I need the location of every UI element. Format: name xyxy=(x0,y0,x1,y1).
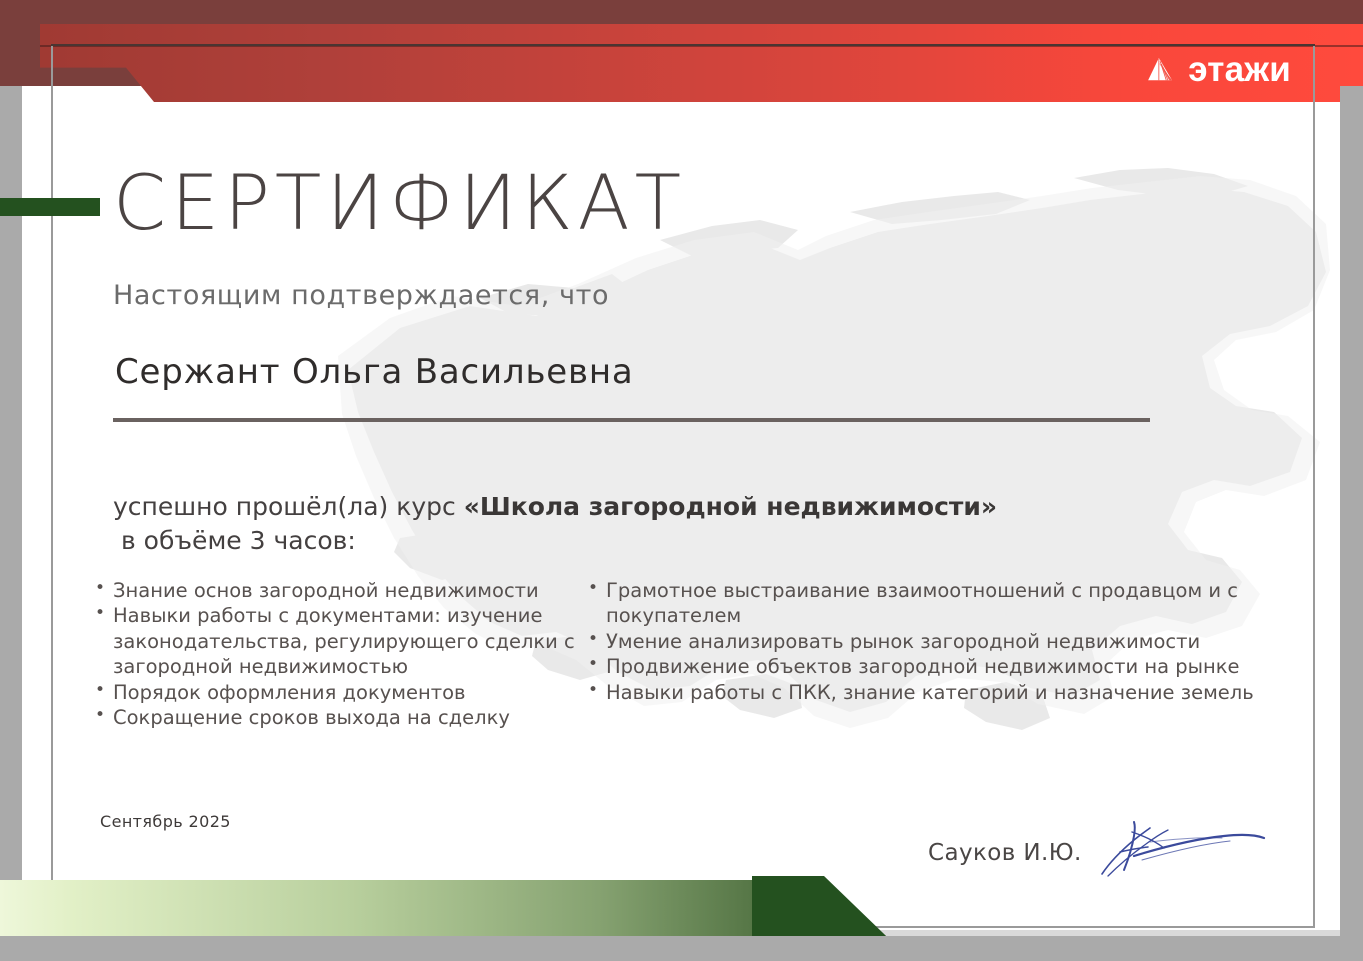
course-prefix: успешно прошёл(ла) курс xyxy=(113,492,464,521)
course-name: «Школа загородной недвижимости» xyxy=(464,492,997,521)
recipient-underline xyxy=(113,418,1150,422)
list-item: Навыки работы с ПКК, знание категорий и … xyxy=(585,680,1265,705)
list-item: Навыки работы с документами: изучение за… xyxy=(92,603,582,679)
signer-name: Сауков И.Ю. xyxy=(928,840,1082,866)
list-item: Умение анализировать рынок загородной не… xyxy=(585,629,1265,654)
skills-right-column: Грамотное выстраивание взаимоотношений с… xyxy=(585,578,1265,731)
course-hours: в объёме 3 часов: xyxy=(121,524,1173,558)
inner-frame-top-line xyxy=(51,44,1315,46)
issue-date: Сентябрь 2025 xyxy=(100,812,231,831)
certificate-canvas: этажи СЕРТИФИКАТ Настоящим подтверждаетс… xyxy=(0,0,1363,961)
list-item: Знание основ загородной недвижимости xyxy=(92,578,582,603)
recipient-name: Сержант Ольга Васильевна xyxy=(115,352,634,392)
right-grey-bar xyxy=(1340,86,1363,961)
skills-columns: Знание основ загородной недвижимости Нав… xyxy=(92,578,1272,731)
list-item: Продвижение объектов загородной недвижим… xyxy=(585,654,1265,679)
skills-left-column: Знание основ загородной недвижимости Нав… xyxy=(92,578,582,731)
list-item: Грамотное выстраивание взаимоотношений с… xyxy=(585,578,1265,629)
list-item: Порядок оформления документов xyxy=(92,680,582,705)
course-statement: успешно прошёл(ла) курс «Школа загородно… xyxy=(113,490,1173,557)
skills-right-list: Грамотное выстраивание взаимоотношений с… xyxy=(585,578,1265,705)
page-title: СЕРТИФИКАТ xyxy=(113,158,686,247)
brand-logo: этажи xyxy=(1144,52,1291,87)
certificate-plate xyxy=(22,0,1340,935)
green-accent-bar-icon xyxy=(0,198,100,216)
building-logo-icon xyxy=(1144,53,1177,86)
certificate-subtitle: Настоящим подтверждается, что xyxy=(113,280,609,311)
brand-name: этажи xyxy=(1188,52,1291,87)
bottom-grey-strip xyxy=(0,936,1363,961)
skills-left-list: Знание основ загородной недвижимости Нав… xyxy=(92,578,582,731)
list-item: Сокращение сроков выхода на сделку xyxy=(92,705,582,730)
handwritten-signature-icon xyxy=(1090,812,1270,890)
